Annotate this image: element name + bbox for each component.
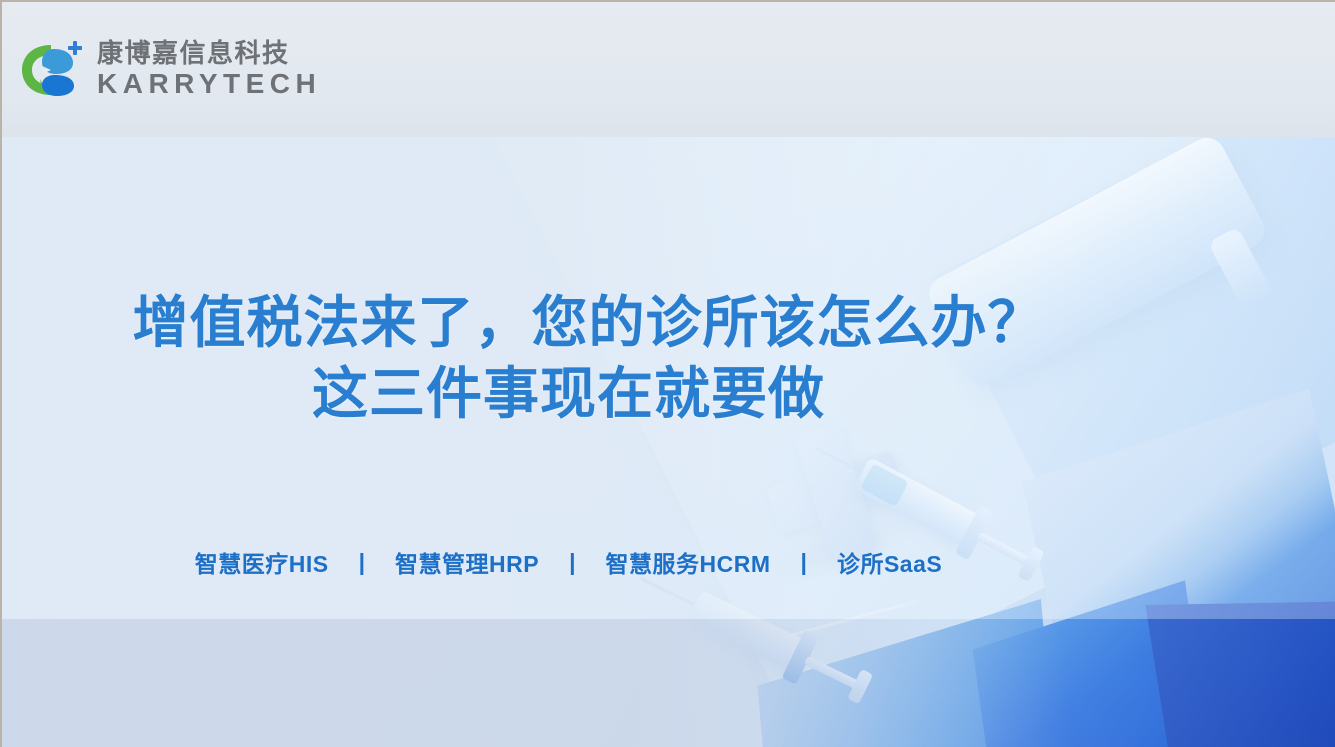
poster-canvas: 康博嘉信息科技 KARRYTECH 增值税法来了，您的诊所该怎么办？ 这三件事现… (0, 0, 1335, 747)
brand-text-block: 康博嘉信息科技 KARRYTECH (97, 40, 321, 99)
tagline-separator: | (359, 549, 365, 576)
tagline-separator: | (801, 549, 807, 576)
header-bar: 康博嘉信息科技 KARRYTECH (2, 2, 1335, 137)
tagline-item-his: 智慧医疗HIS (195, 545, 329, 579)
tagline-separator: | (569, 549, 575, 576)
karrytech-logo-mark-icon (18, 39, 84, 101)
tagline-row: 智慧医疗HIS | 智慧管理HRP | 智慧服务HCRM | 诊所SaaS (2, 545, 1335, 579)
tagline-item-hrp: 智慧管理HRP (395, 545, 539, 579)
tagline-item-hcrm: 智慧服务HCRM (606, 545, 771, 579)
brand-logo-lockup[interactable]: 康博嘉信息科技 KARRYTECH (18, 39, 321, 101)
tagline-item-saas: 诊所SaaS (837, 545, 942, 579)
brand-name-english: KARRYTECH (97, 69, 321, 98)
brand-name-chinese: 康博嘉信息科技 (97, 40, 321, 67)
bottom-band (2, 619, 1335, 747)
